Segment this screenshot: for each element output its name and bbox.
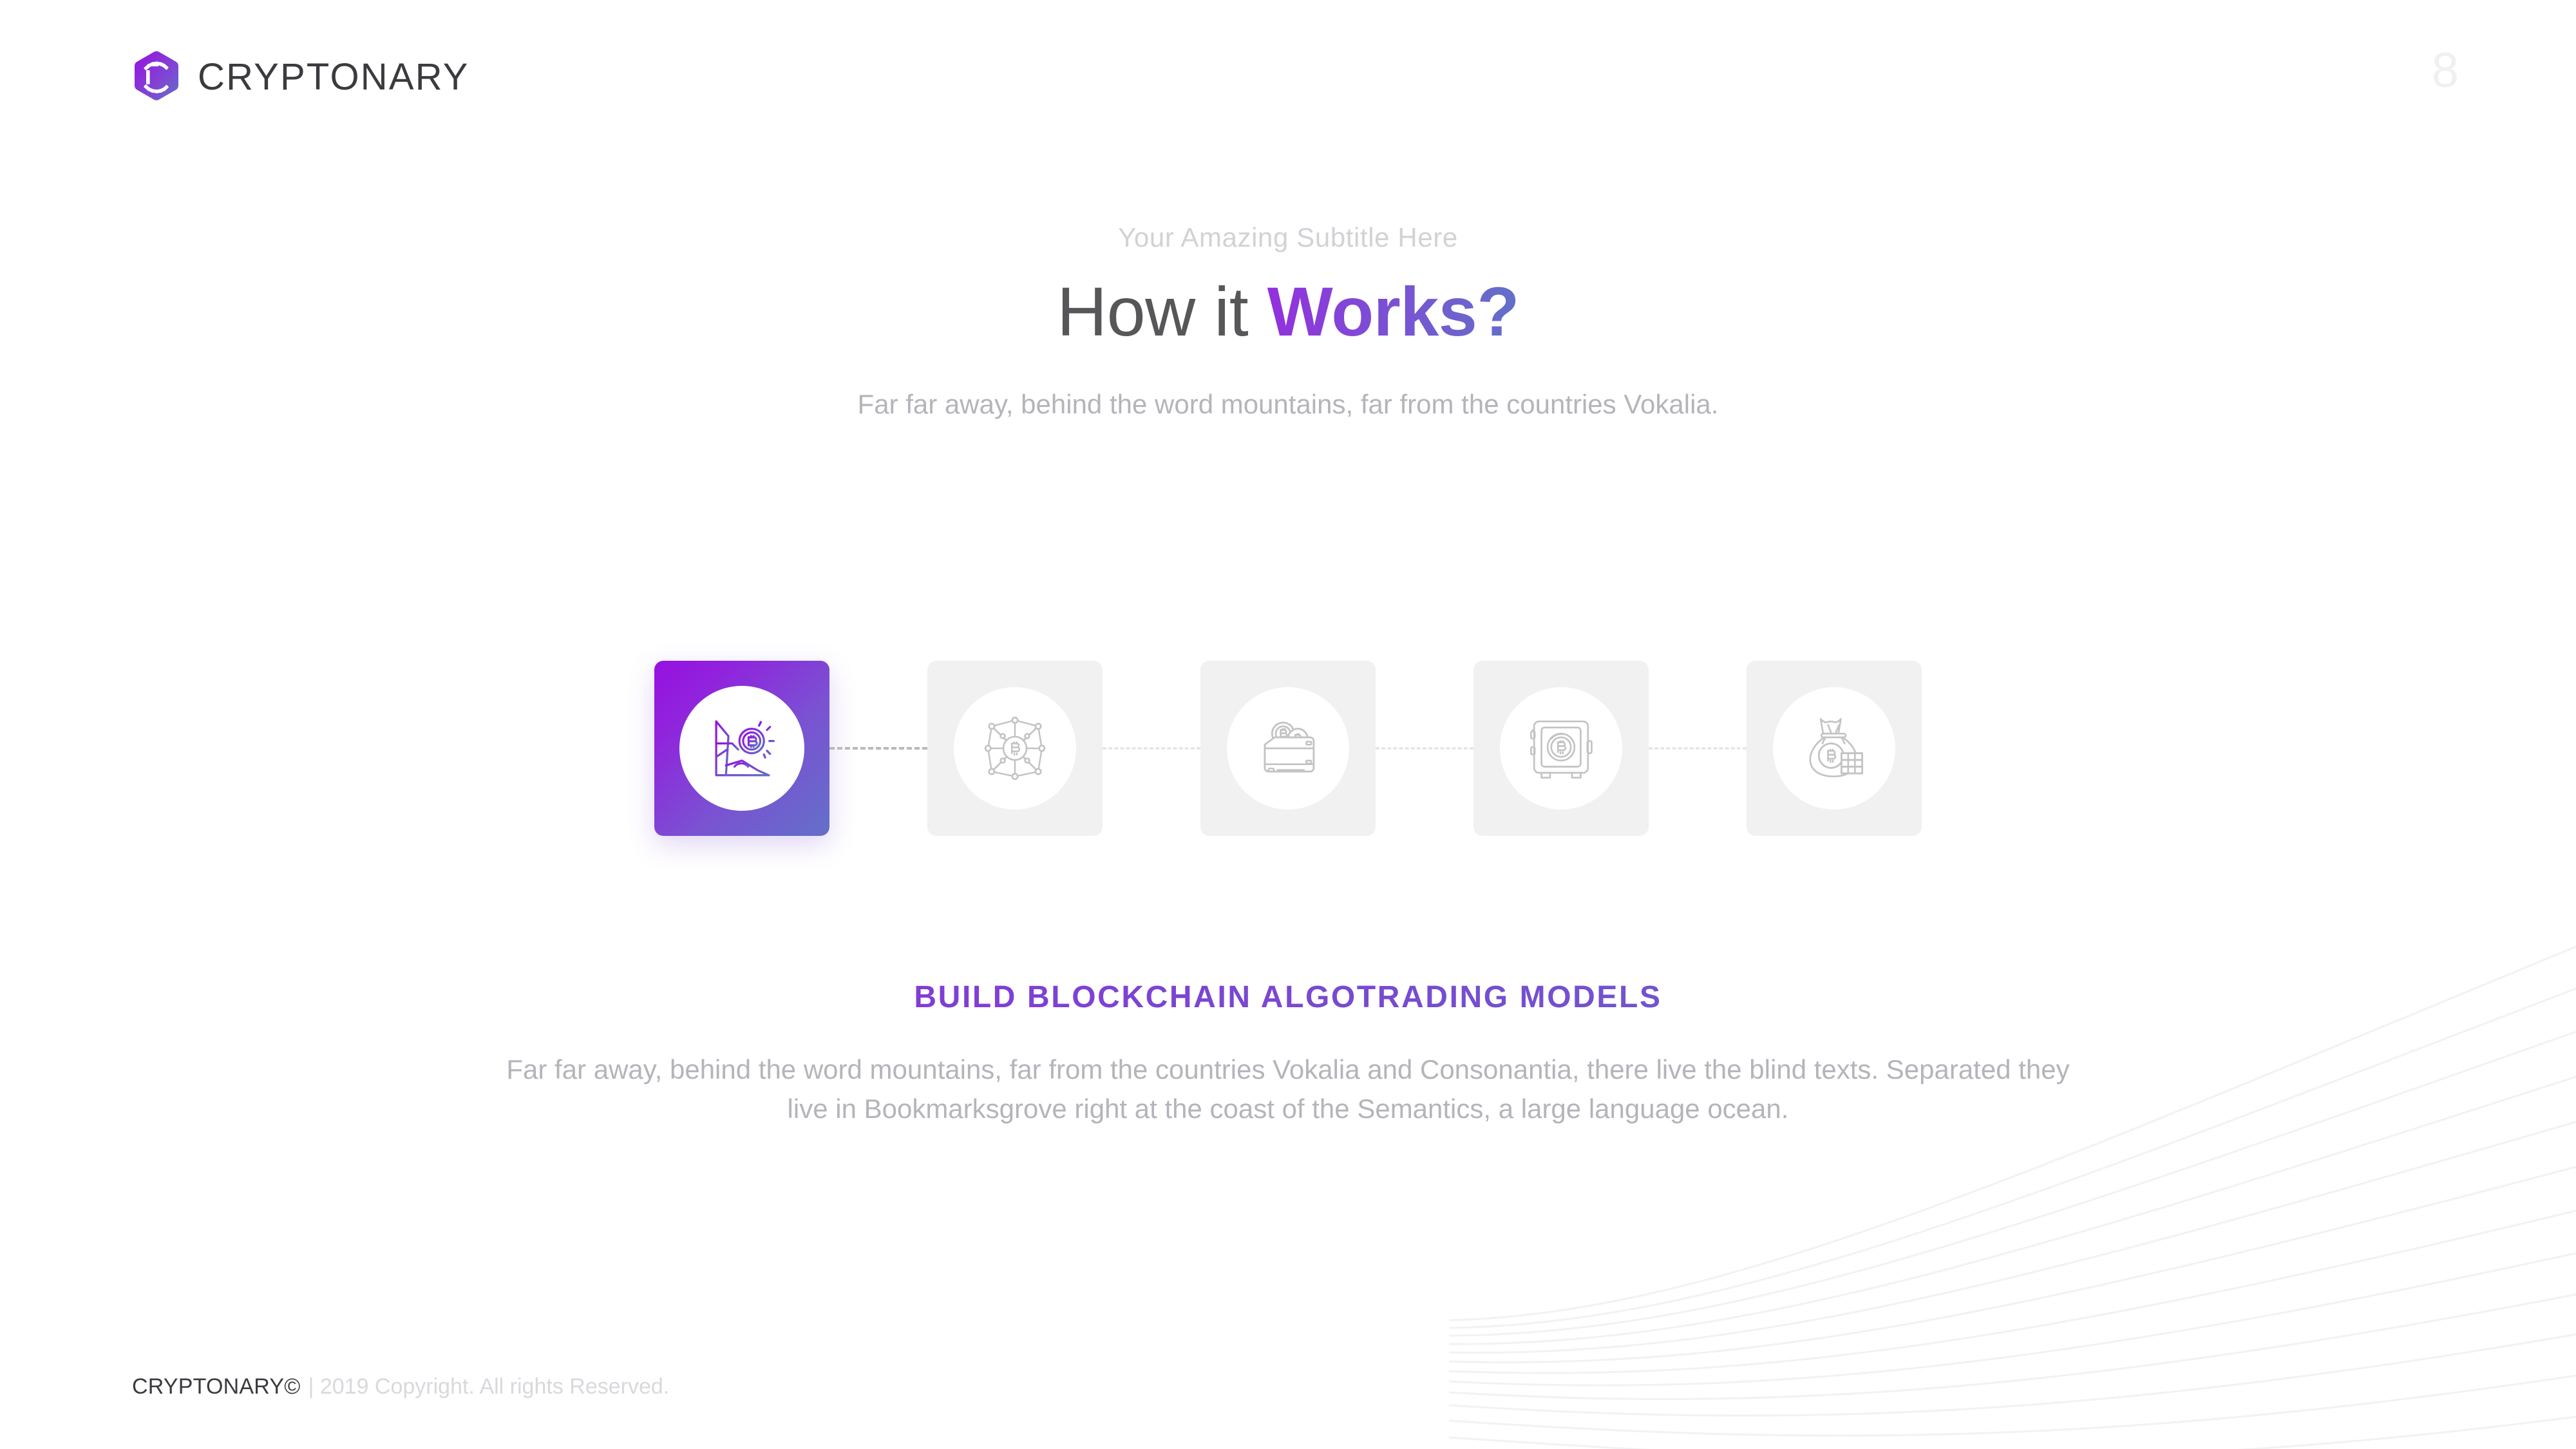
step-connector-2: [1103, 747, 1200, 750]
bitcoin-money-bag-icon: [1797, 712, 1871, 785]
page-number: 8: [2432, 46, 2459, 95]
steps-row: [654, 661, 1922, 836]
decorative-curves: [1449, 869, 2576, 1449]
step-disc: [954, 687, 1076, 810]
page-title-accent: Works?: [1267, 272, 1519, 350]
title-lede: Far far away, behind the word mountains,…: [0, 391, 2576, 418]
page-title: How it Works?: [0, 274, 2576, 350]
step-connector-3: [1376, 747, 1473, 750]
title-block: Your Amazing Subtitle Here How it Works?…: [0, 224, 2576, 418]
blockchain-network-bitcoin-icon: [978, 712, 1052, 785]
section-paragraph: Far far away, behind the word mountains,…: [483, 1050, 2093, 1129]
bitcoin-safe-vault-icon: [1524, 712, 1598, 785]
step-connector-1: [829, 747, 927, 750]
page-title-plain: How it: [1057, 272, 1267, 350]
footer: CRYPTONARY© | 2019 Copyright. All rights…: [132, 1376, 669, 1397]
footer-copyright: | 2019 Copyright. All rights Reserved.: [308, 1376, 670, 1397]
step-card-money-bag[interactable]: [1747, 661, 1922, 836]
footer-brand: CRYPTONARY©: [132, 1376, 301, 1397]
brand-wordmark: CRYPTONARY: [198, 59, 469, 96]
step-card-vault[interactable]: [1473, 661, 1649, 836]
step-disc: [1773, 687, 1895, 810]
step-card-blockchain-network[interactable]: [927, 661, 1103, 836]
content-block: BUILD BLOCKCHAIN ALGOTRADING MODELS Far …: [0, 982, 2576, 1129]
bitcoin-mining-icon: [705, 712, 779, 785]
step-disc: [1500, 687, 1622, 810]
slide-root: CRYPTONARY 8 Your Amazing Subtitle Here …: [0, 0, 2576, 1449]
eyebrow-subtitle: Your Amazing Subtitle Here: [0, 224, 2576, 251]
bitcoin-wallet-icon: [1251, 712, 1325, 785]
header: CRYPTONARY: [132, 50, 469, 104]
step-disc: [1227, 687, 1349, 810]
step-disc: [679, 686, 804, 811]
step-connector-4: [1649, 747, 1747, 750]
cryptonary-hexagon-logo-icon: [132, 50, 181, 104]
step-card-mining[interactable]: [654, 661, 829, 836]
step-card-wallet[interactable]: [1200, 661, 1376, 836]
section-heading: BUILD BLOCKCHAIN ALGOTRADING MODELS: [0, 982, 2576, 1013]
